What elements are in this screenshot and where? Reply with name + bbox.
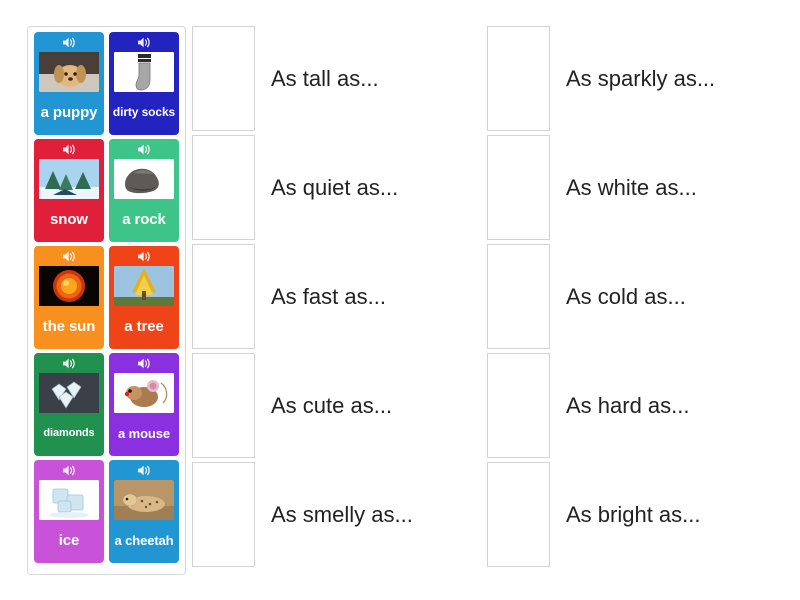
prompt-text: As white as... [566, 175, 697, 201]
speaker-icon[interactable] [34, 246, 104, 266]
dirty-socks-photo [114, 52, 174, 92]
answer-card[interactable]: snow [34, 139, 104, 242]
speaker-icon[interactable] [34, 139, 104, 159]
prompt-row: As sparkly as... [487, 26, 767, 131]
answer-card[interactable]: a cheetah [109, 460, 179, 563]
prompt-text: As tall as... [271, 66, 379, 92]
speaker-icon[interactable] [34, 353, 104, 373]
answer-card-label: the sun [34, 306, 104, 349]
prompt-row: As cute as... [192, 353, 462, 458]
answer-card-label: a tree [109, 306, 179, 349]
prompt-text: As cold as... [566, 284, 686, 310]
prompt-text: As quiet as... [271, 175, 398, 201]
answer-card-label: a puppy [34, 92, 104, 135]
answer-dropzone[interactable] [192, 135, 255, 240]
answer-card-label: a cheetah [109, 520, 179, 563]
answer-dropzone[interactable] [487, 26, 550, 131]
answer-card[interactable]: a mouse [109, 353, 179, 456]
speaker-icon[interactable] [34, 460, 104, 480]
answer-card[interactable]: a tree [109, 246, 179, 349]
speaker-icon[interactable] [109, 353, 179, 373]
answer-dropzone[interactable] [487, 462, 550, 567]
mouse-photo [114, 373, 174, 413]
answer-card-label: a mouse [109, 413, 179, 456]
rock-photo [114, 159, 174, 199]
answer-card-label: dirty socks [109, 92, 179, 135]
speaker-icon[interactable] [34, 32, 104, 52]
snow-photo [39, 159, 99, 199]
answer-card[interactable]: ice [34, 460, 104, 563]
match-up-activity-board: a puppydirty sockssnowa rockthe suna tre… [0, 0, 800, 600]
prompt-row: As hard as... [487, 353, 767, 458]
ice-photo [39, 480, 99, 520]
prompt-text: As bright as... [566, 502, 701, 528]
prompt-column-left: As tall as...As quiet as...As fast as...… [192, 26, 462, 567]
prompt-text: As cute as... [271, 393, 392, 419]
answer-card-label: a rock [109, 199, 179, 242]
prompt-text: As hard as... [566, 393, 690, 419]
prompt-row: As cold as... [487, 244, 767, 349]
answer-dropzone[interactable] [487, 353, 550, 458]
speaker-icon[interactable] [109, 139, 179, 159]
answer-dropzone[interactable] [487, 244, 550, 349]
speaker-icon[interactable] [109, 460, 179, 480]
speaker-icon[interactable] [109, 32, 179, 52]
prompt-text: As fast as... [271, 284, 386, 310]
speaker-icon[interactable] [109, 246, 179, 266]
prompt-row: As tall as... [192, 26, 462, 131]
prompt-row: As smelly as... [192, 462, 462, 567]
answer-card-label: ice [34, 520, 104, 563]
prompt-text: As sparkly as... [566, 66, 715, 92]
answer-card[interactable]: the sun [34, 246, 104, 349]
tree-photo [114, 266, 174, 306]
answer-dropzone[interactable] [192, 26, 255, 131]
answer-card-label: diamonds [34, 413, 104, 456]
answer-dropzone[interactable] [192, 353, 255, 458]
answer-dropzone[interactable] [192, 462, 255, 567]
sun-photo [39, 266, 99, 306]
prompt-text: As smelly as... [271, 502, 413, 528]
cheetah-photo [114, 480, 174, 520]
puppy-photo [39, 52, 99, 92]
answer-card[interactable]: diamonds [34, 353, 104, 456]
diamonds-photo [39, 373, 99, 413]
prompt-row: As quiet as... [192, 135, 462, 240]
prompt-row: As white as... [487, 135, 767, 240]
answer-card[interactable]: dirty socks [109, 32, 179, 135]
prompt-row: As fast as... [192, 244, 462, 349]
answer-card-tray: a puppydirty sockssnowa rockthe suna tre… [27, 26, 186, 575]
answer-card-label: snow [34, 199, 104, 242]
answer-dropzone[interactable] [192, 244, 255, 349]
answer-dropzone[interactable] [487, 135, 550, 240]
prompt-row: As bright as... [487, 462, 767, 567]
answer-card[interactable]: a puppy [34, 32, 104, 135]
prompt-column-right: As sparkly as...As white as...As cold as… [487, 26, 767, 567]
answer-card[interactable]: a rock [109, 139, 179, 242]
